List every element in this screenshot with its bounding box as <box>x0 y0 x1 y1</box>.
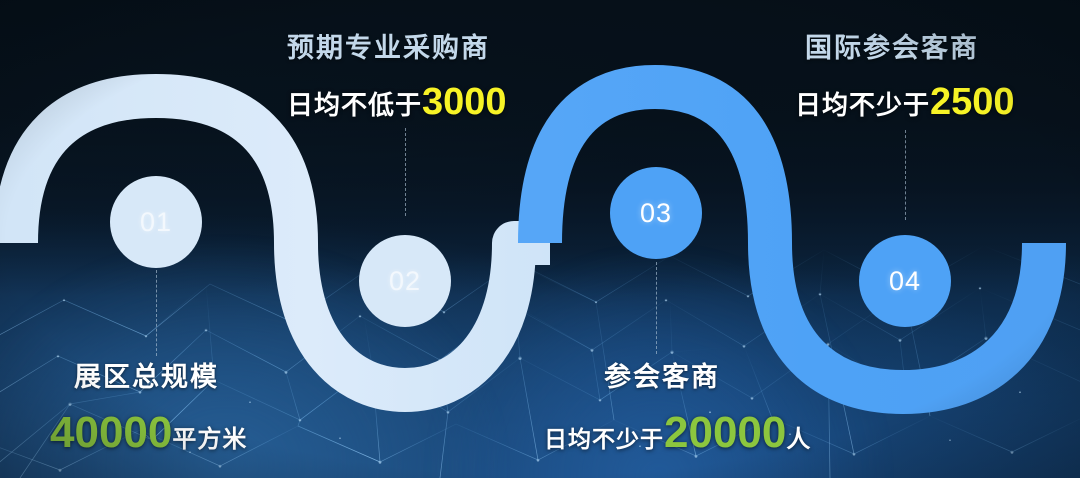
infographic-canvas: 01 02 03 04 预期专业采购商 日均不低于3000 国际参会客商 日均不… <box>0 0 1080 478</box>
background-vignette <box>0 0 1080 478</box>
